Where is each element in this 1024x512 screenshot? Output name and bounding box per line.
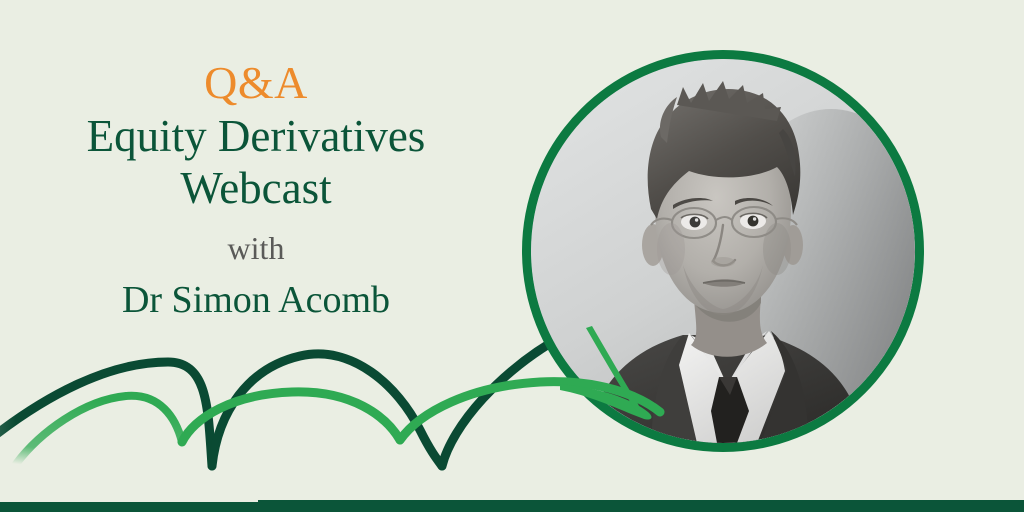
wave-path-bright-left — [16, 396, 182, 464]
title-line-1: Equity Derivatives — [0, 110, 512, 162]
eyebrow-qa: Q&A — [0, 56, 512, 110]
speaker-photo — [531, 59, 915, 443]
connector-with: with — [0, 226, 512, 270]
wave-path-dark-mid — [212, 354, 442, 466]
wave-path-bright-mid — [182, 392, 400, 442]
bottom-bar-right-segment — [258, 500, 1024, 512]
wave-path-dark-left — [0, 362, 212, 466]
bottom-bar-left-segment — [0, 502, 258, 512]
headline-block: Q&A Equity Derivatives Webcast with Dr S… — [0, 56, 512, 324]
webcast-promo-banner: Q&A Equity Derivatives Webcast with Dr S… — [0, 0, 1024, 512]
speaker-name: Dr Simon Acomb — [0, 276, 512, 324]
title-line-2: Webcast — [0, 162, 512, 214]
speaker-portrait — [522, 50, 924, 452]
